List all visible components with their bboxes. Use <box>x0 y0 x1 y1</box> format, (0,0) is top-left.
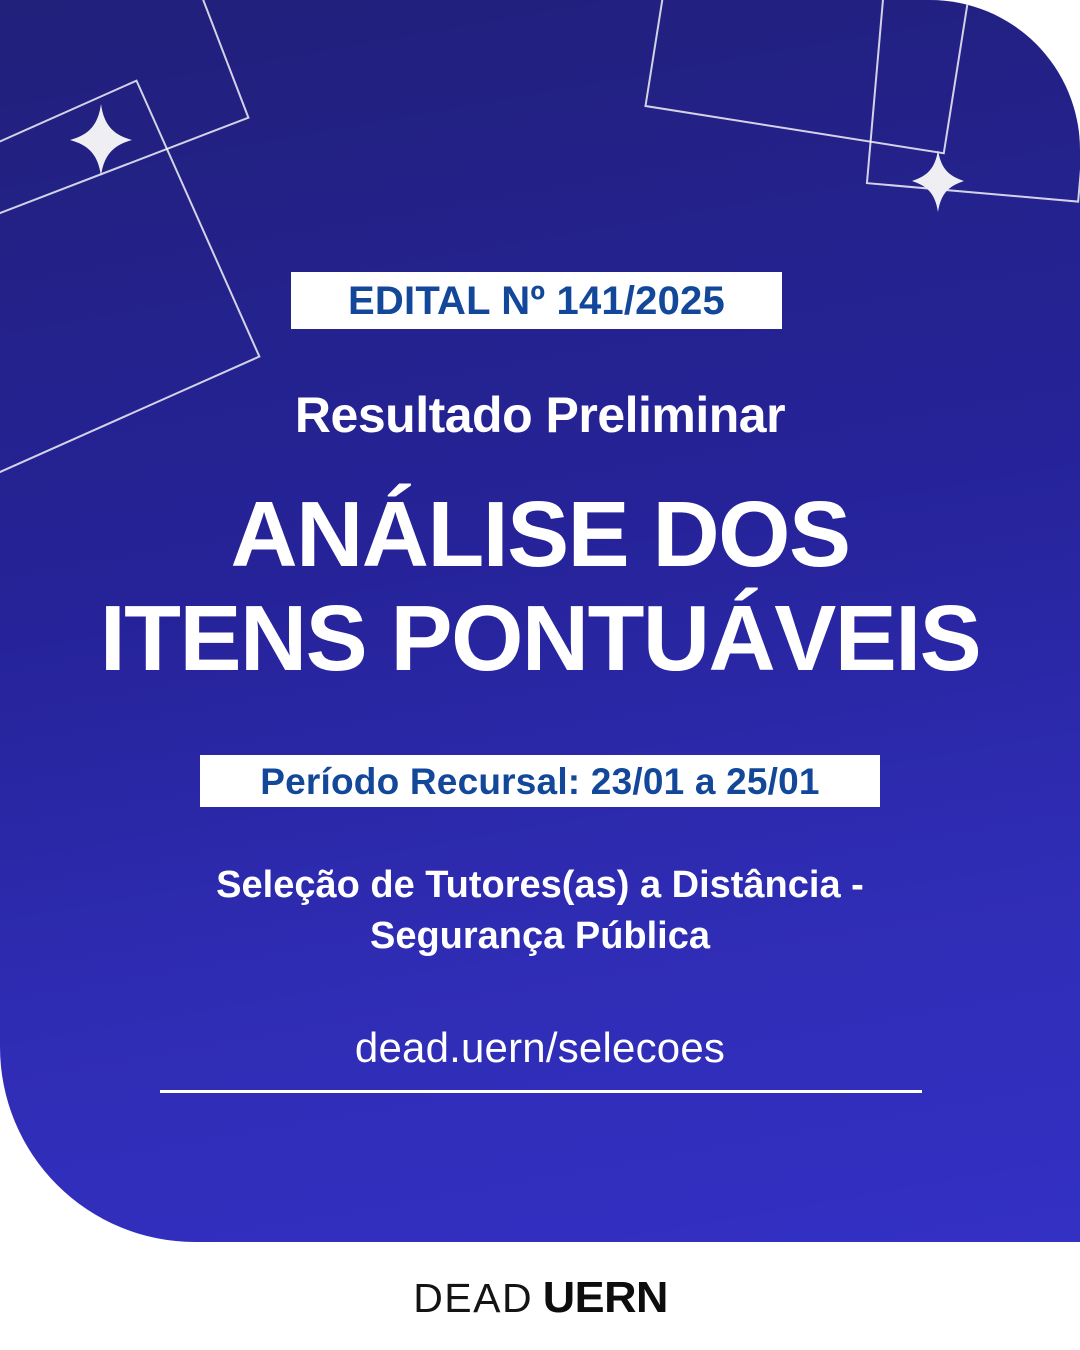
horizontal-divider <box>160 1090 922 1093</box>
page-title: ANÁLISE DOS ITENS PONTUÁVEIS <box>0 482 1080 690</box>
edital-number-badge: EDITAL Nº 141/2025 <box>291 272 782 329</box>
subtitle: Seleção de Tutores(as) a Distância - Seg… <box>90 860 990 962</box>
logo-dead-text: DEAD <box>413 1275 533 1321</box>
rotated-square-outline-icon <box>866 0 1080 203</box>
logo-uern-text: UERN <box>543 1276 668 1320</box>
subtitle-line-1: Seleção de Tutores(as) a Distância - <box>216 864 864 906</box>
kicker-text: Resultado Preliminar <box>0 386 1080 444</box>
appeal-period-badge: Período Recursal: 23/01 a 25/01 <box>200 755 880 807</box>
page-title-line-1: ANÁLISE DOS <box>0 482 1080 586</box>
subtitle-line-2: Segurança Pública <box>370 915 710 957</box>
footer-logo: DEADUERN <box>0 1276 1080 1320</box>
poster-canvas: EDITAL Nº 141/2025 Resultado Preliminar … <box>0 0 1080 1350</box>
blue-panel: EDITAL Nº 141/2025 Resultado Preliminar … <box>0 0 1080 1242</box>
website-url[interactable]: dead.uern/selecoes <box>0 1024 1080 1072</box>
four-point-star-icon <box>70 104 132 176</box>
four-point-star-icon <box>912 150 964 212</box>
page-title-line-2: ITENS PONTUÁVEIS <box>0 586 1080 690</box>
